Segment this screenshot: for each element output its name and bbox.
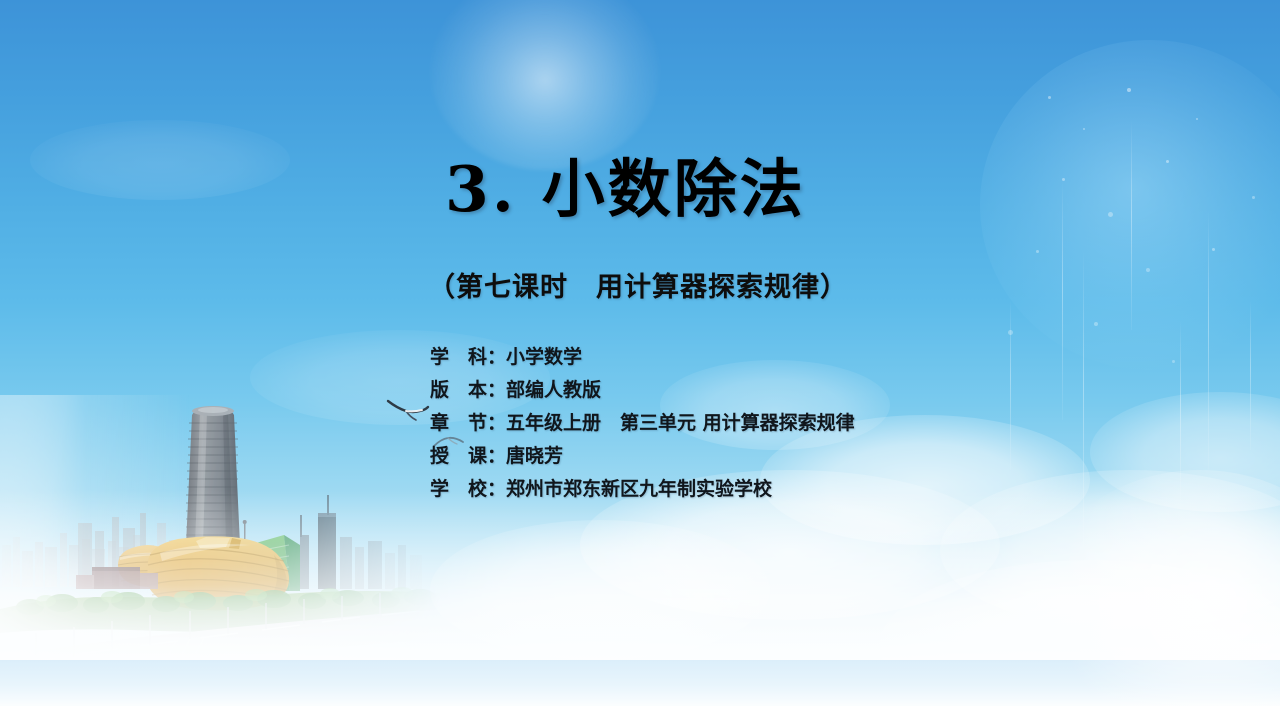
sparkle-dot-decoration (1062, 178, 1065, 181)
sparkle-dot-decoration (1083, 128, 1085, 130)
cloud-decoration (1090, 392, 1280, 512)
cloud-decoration (430, 520, 770, 660)
page-title: 3. 小数除法 (445, 139, 806, 230)
info-label: 章 节： (430, 408, 506, 435)
sparkle-dot-decoration (1036, 250, 1039, 253)
lesson-info-list: 学 科： 小学数学 版 本： 部编人教版 章 节： 五年级上册 第三单元 用计算… (430, 342, 855, 507)
info-value: 唐晓芳 (506, 441, 563, 468)
sparkle-dot-decoration (1252, 196, 1255, 199)
info-value: 小学数学 (506, 342, 582, 369)
info-label: 版 本： (430, 375, 506, 402)
sparkle-dot-decoration (1196, 118, 1198, 120)
cloud-decoration (880, 560, 1280, 720)
info-label: 学 科： (430, 342, 506, 369)
info-row-chapter: 章 节： 五年级上册 第三单元 用计算器探索规律 (430, 408, 855, 441)
info-label: 授 课： (430, 441, 506, 468)
info-row-subject: 学 科： 小学数学 (430, 342, 855, 375)
cloud-decoration (30, 120, 290, 200)
light-streak-decoration (1010, 300, 1011, 470)
cloud-decoration (940, 470, 1280, 630)
bottom-haze-decoration (0, 490, 1280, 720)
light-streak-decoration (1250, 300, 1251, 450)
bottom-right-glow-decoration (1040, 470, 1280, 720)
light-streak-decoration (1180, 320, 1181, 500)
right-sky-glow-decoration (980, 40, 1280, 370)
info-row-school: 学 校： 郑州市郑东新区九年制实验学校 (430, 474, 855, 507)
footer-band-decoration (0, 660, 1280, 706)
city-skyline-illustration (0, 395, 440, 680)
sparkle-dot-decoration (1212, 248, 1215, 251)
info-value: 五年级上册 第三单元 用计算器探索规律 (506, 408, 855, 435)
sparkle-dot-decoration (1146, 268, 1150, 272)
sparkle-dot-decoration (1008, 330, 1013, 335)
light-streak-decoration (1208, 210, 1209, 470)
sparkle-dot-decoration (1172, 360, 1175, 363)
sparkle-dot-decoration (1048, 96, 1051, 99)
info-value: 郑州市郑东新区九年制实验学校 (506, 474, 772, 501)
info-label: 学 校： (430, 474, 506, 501)
info-value: 部编人教版 (506, 375, 601, 402)
sparkle-dot-decoration (1127, 88, 1131, 92)
presentation-slide: 3. 小数除法 （第七课时 用计算器探索规律） 学 科： 小学数学 版 本： 部… (0, 0, 1280, 720)
info-row-edition: 版 本： 部编人教版 (430, 375, 855, 408)
light-streak-decoration (1062, 180, 1063, 420)
info-row-teacher: 授 课： 唐晓芳 (430, 441, 855, 474)
sparkle-dot-decoration (1108, 212, 1113, 217)
light-streak-decoration (1131, 120, 1132, 330)
light-streak-decoration (1083, 250, 1084, 550)
sparkle-dot-decoration (1094, 322, 1098, 326)
page-subtitle: （第七课时 用计算器探索规律） (428, 265, 848, 304)
seagull-icon (386, 398, 430, 424)
sparkle-dot-decoration (1166, 160, 1169, 163)
